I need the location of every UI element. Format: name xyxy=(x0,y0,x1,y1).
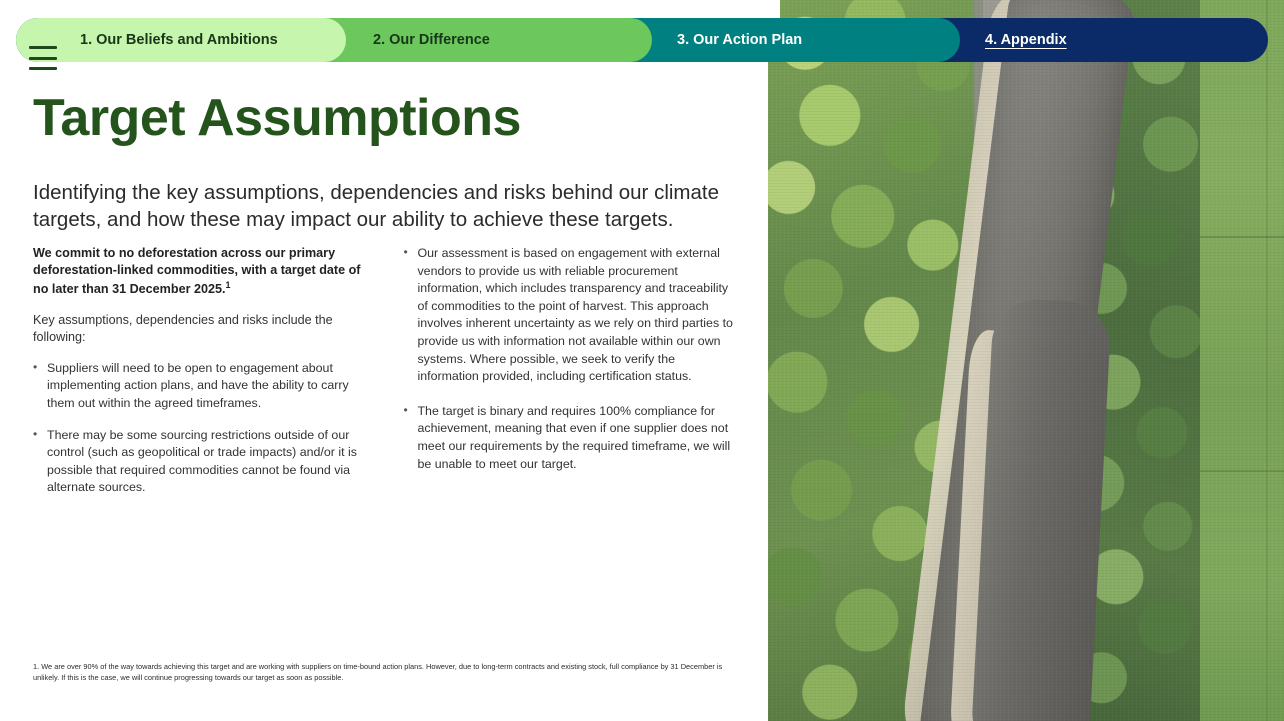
list-item: Suppliers will need to be open to engage… xyxy=(33,360,377,413)
list-item: The target is binary and requires 100% c… xyxy=(403,403,733,473)
assumptions-intro: Key assumptions, dependencies and risks … xyxy=(33,312,377,346)
section-nav: 4. Appendix 3. Our Action Plan 2. Our Di… xyxy=(0,18,1284,62)
right-bullet-list: Our assessment is based on engagement wi… xyxy=(403,245,733,473)
photo-river xyxy=(970,297,1112,721)
right-column: Our assessment is based on engagement wi… xyxy=(403,245,733,511)
commitment-text: We commit to no deforestation across our… xyxy=(33,246,360,296)
hamburger-bar xyxy=(29,67,57,70)
photo-field-line xyxy=(1200,470,1284,472)
list-item: Our assessment is based on engagement wi… xyxy=(403,245,733,386)
footnote: 1. We are over 90% of the way towards ac… xyxy=(33,662,723,683)
nav-tab-label: 1. Our Beliefs and Ambitions xyxy=(80,32,278,48)
nav-tab-label: 2. Our Difference xyxy=(373,32,490,48)
nav-tab-beliefs-ambitions[interactable]: 1. Our Beliefs and Ambitions xyxy=(16,18,346,62)
photo-grass-paddock xyxy=(1200,0,1284,721)
nav-tab-label: 3. Our Action Plan xyxy=(677,32,802,48)
content-columns: We commit to no deforestation across our… xyxy=(33,245,733,511)
photo-field-line xyxy=(1266,0,1268,721)
hamburger-bar xyxy=(29,57,57,60)
hero-aerial-photo xyxy=(768,0,1284,721)
nav-tab-label: 4. Appendix xyxy=(985,32,1067,48)
page-subtitle: Identifying the key assumptions, depende… xyxy=(33,179,733,233)
hamburger-bar xyxy=(29,46,57,49)
list-item: There may be some sourcing restrictions … xyxy=(33,427,377,497)
slide-content: Target Assumptions Identifying the key a… xyxy=(0,62,768,721)
footnote-marker: 1 xyxy=(226,280,231,290)
left-column: We commit to no deforestation across our… xyxy=(33,245,377,511)
page-title: Target Assumptions xyxy=(33,88,521,148)
photo-field-line xyxy=(1200,236,1284,238)
commitment-statement: We commit to no deforestation across our… xyxy=(33,245,377,299)
hamburger-menu-icon[interactable] xyxy=(29,46,57,70)
slide: 4. Appendix 3. Our Action Plan 2. Our Di… xyxy=(0,0,1284,721)
left-bullet-list: Suppliers will need to be open to engage… xyxy=(33,360,377,497)
